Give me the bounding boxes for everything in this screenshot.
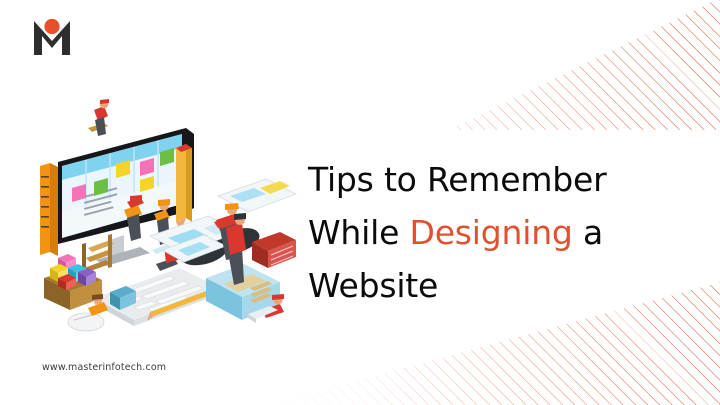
computer-mouse [68,313,104,331]
master-infotech-m-logo[interactable] [30,15,74,57]
stripe-pattern-fill [290,0,720,130]
worker-on-monitor [88,99,109,136]
headline-line-3: Website [308,266,438,305]
top-right-diagonal-stripes [290,0,720,130]
website-url[interactable]: www.masterinfotech.com [42,362,166,373]
isometric-web-design-team-illustration [28,92,308,332]
logo-dot-icon [44,19,59,34]
cube-stack-on-box [44,254,102,310]
headline-line-1: Tips to Remember [308,160,607,199]
orange-ruler-prop [40,163,58,256]
headline-line-2-tail: a [573,213,603,252]
presentation-slide: Tips to Remember While Designing a Websi… [0,0,720,405]
headline-line-2-lead: While [308,213,409,252]
headline-accent-word: Designing [409,213,572,252]
page-title: Tips to Remember While Designing a Websi… [308,153,706,312]
